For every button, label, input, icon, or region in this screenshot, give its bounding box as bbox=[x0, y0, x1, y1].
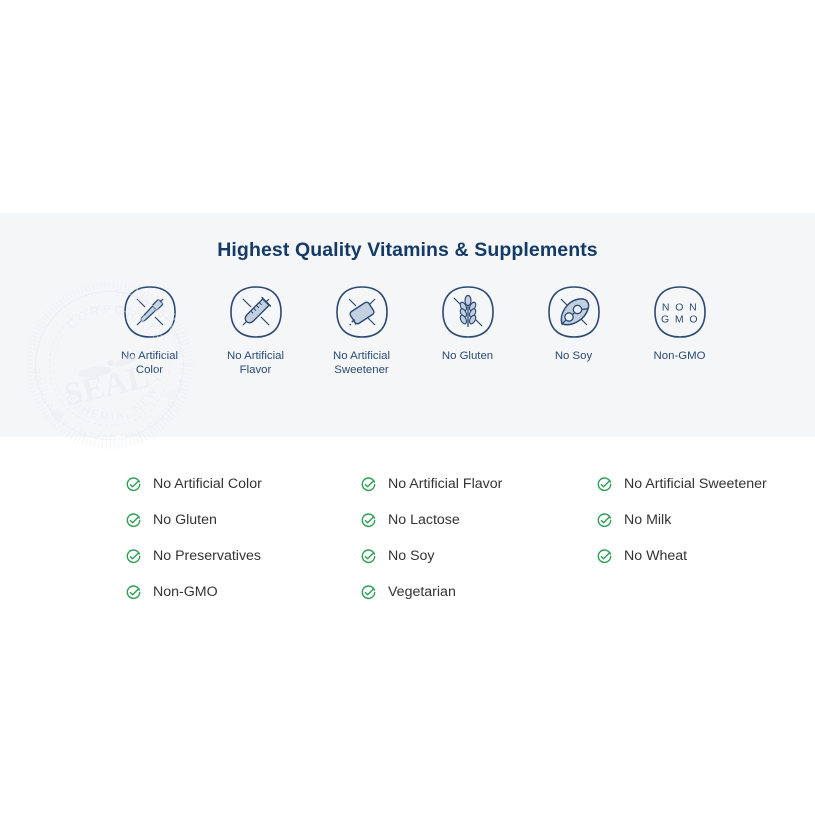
checklist-column-3: No Artificial Sweetener No Milk No Wheat bbox=[579, 466, 815, 610]
page-title: Highest Quality Vitamins & Supplements bbox=[0, 213, 815, 262]
sweetener-packet-icon bbox=[334, 284, 390, 340]
list-item-label: No Lactose bbox=[388, 512, 460, 528]
list-item: No Artificial Flavor bbox=[361, 466, 579, 502]
badge-label: No Artificial Flavor bbox=[227, 349, 284, 377]
badge-label: No Gluten bbox=[442, 349, 493, 363]
badge-label-line1: No Artificial bbox=[121, 350, 178, 362]
list-item: No Artificial Color bbox=[126, 466, 344, 502]
check-circle-icon bbox=[597, 549, 612, 564]
badge-no-artificial-sweetener: No Artificial Sweetener bbox=[309, 284, 415, 377]
check-circle-icon bbox=[361, 477, 376, 492]
list-item: No Preservatives bbox=[126, 538, 344, 574]
checklist-column-2: No Artificial Flavor No Lactose No Soy bbox=[344, 466, 579, 610]
badge-label-line2: Sweetener bbox=[334, 364, 388, 376]
list-item-label: No Artificial Flavor bbox=[388, 476, 502, 492]
badge-non-gmo: N O N G M O Non-GMO bbox=[627, 284, 733, 363]
test-tube-icon bbox=[228, 284, 284, 340]
list-item: No Lactose bbox=[361, 502, 579, 538]
badge-no-gluten: No Gluten bbox=[415, 284, 521, 363]
badge-label-line2: Flavor bbox=[240, 364, 272, 376]
soy-pod-icon bbox=[546, 284, 602, 340]
list-item: No Soy bbox=[361, 538, 579, 574]
list-item: No Milk bbox=[597, 502, 815, 538]
list-item-label: No Preservatives bbox=[153, 548, 261, 564]
list-item-label: No Milk bbox=[624, 512, 671, 528]
list-item-label: No Artificial Color bbox=[153, 476, 262, 492]
badge-no-soy: No Soy bbox=[521, 284, 627, 363]
check-circle-icon bbox=[126, 549, 141, 564]
list-item-label: No Artificial Sweetener bbox=[624, 476, 767, 492]
wheat-stalk-icon bbox=[440, 284, 496, 340]
check-circle-icon bbox=[597, 513, 612, 528]
list-item-label: No Wheat bbox=[624, 548, 687, 564]
badge-label: No Artificial Color bbox=[121, 349, 178, 377]
badge-label: Non-GMO bbox=[654, 349, 706, 363]
non-gmo-line1: N O N bbox=[661, 302, 697, 314]
checklist: No Artificial Color No Gluten No Preserv… bbox=[0, 437, 815, 610]
non-gmo-line2: G M O bbox=[661, 314, 699, 326]
list-item: Vegetarian bbox=[361, 574, 579, 610]
badge-no-artificial-color: No Artificial Color bbox=[97, 284, 203, 377]
badge-label: No Soy bbox=[555, 349, 592, 363]
list-item: No Artificial Sweetener bbox=[597, 466, 815, 502]
list-item-label: No Gluten bbox=[153, 512, 217, 528]
badges-row: No Artificial Color bbox=[0, 284, 815, 377]
list-item: No Gluten bbox=[126, 502, 344, 538]
check-circle-icon bbox=[126, 477, 141, 492]
list-item: Non-GMO bbox=[126, 574, 344, 610]
check-circle-icon bbox=[126, 513, 141, 528]
check-circle-icon bbox=[361, 585, 376, 600]
list-item: No Wheat bbox=[597, 538, 815, 574]
checklist-column-1: No Artificial Color No Gluten No Preserv… bbox=[0, 466, 344, 610]
badge-label: No Artificial Sweetener bbox=[333, 349, 390, 377]
list-item-label: No Soy bbox=[388, 548, 435, 564]
quality-assurance-page: Highest Quality Vitamins & Supplements bbox=[0, 0, 815, 815]
check-circle-icon bbox=[361, 513, 376, 528]
check-circle-icon bbox=[597, 477, 612, 492]
badge-label-line2: Color bbox=[136, 364, 163, 376]
non-gmo-icon: N O N G M O bbox=[652, 284, 708, 340]
list-item-label: Non-GMO bbox=[153, 584, 218, 600]
dropper-icon bbox=[122, 284, 178, 340]
check-circle-icon bbox=[361, 549, 376, 564]
quality-band: Highest Quality Vitamins & Supplements bbox=[0, 213, 815, 437]
badge-label-line1: No Artificial bbox=[227, 350, 284, 362]
check-circle-icon bbox=[126, 585, 141, 600]
top-whitespace bbox=[0, 0, 815, 213]
badge-label-line1: No Artificial bbox=[333, 350, 390, 362]
badge-no-artificial-flavor: No Artificial Flavor bbox=[203, 284, 309, 377]
list-item-label: Vegetarian bbox=[388, 584, 456, 600]
